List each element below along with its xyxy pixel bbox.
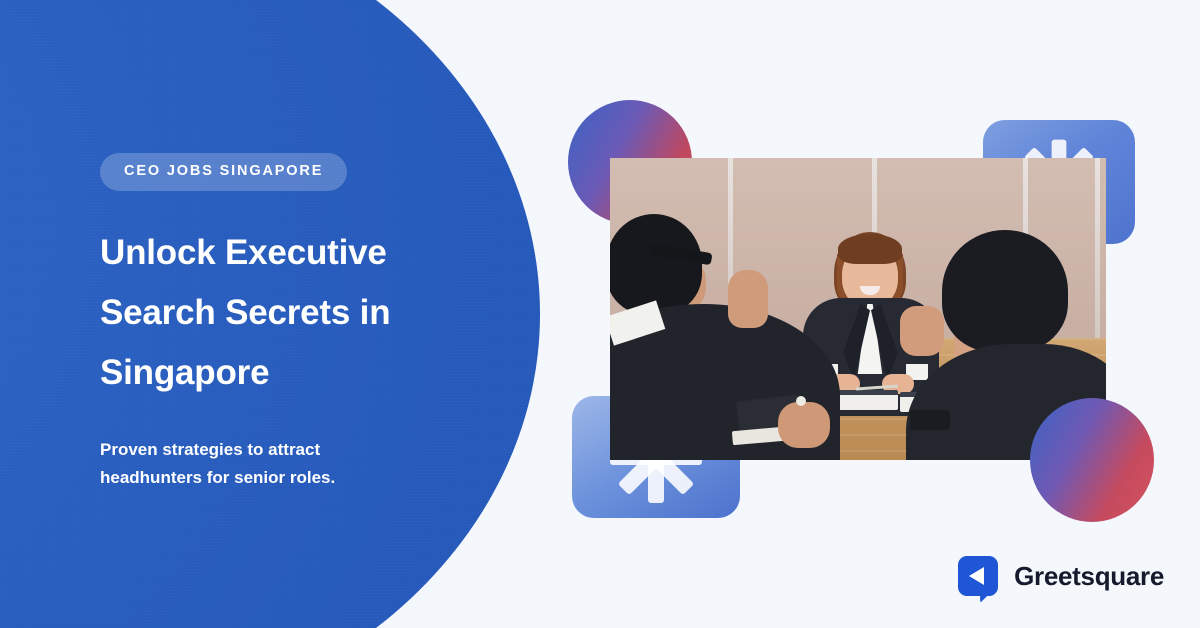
category-badge: CEO JOBS SINGAPORE xyxy=(100,153,347,191)
wand-badge xyxy=(1030,398,1154,522)
page-title: Unlock Executive Search Secrets in Singa… xyxy=(100,223,430,403)
interviewer-left-hand-lower xyxy=(778,402,830,448)
interviewer-left-pen-tip xyxy=(796,396,806,406)
interviewer-right-hand xyxy=(900,306,944,356)
interviewer-left-hand xyxy=(728,270,768,328)
promo-banner: CEO JOBS SINGAPORE Unlock Executive Sear… xyxy=(0,0,1200,628)
interviewer-left-hair xyxy=(610,214,702,314)
brand-logo[interactable]: Greetsquare xyxy=(958,556,1164,596)
interviewer-right-hair xyxy=(942,230,1068,352)
copy-block: CEO JOBS SINGAPORE Unlock Executive Sear… xyxy=(100,153,460,492)
phone-on-table xyxy=(910,410,950,430)
candidate-fringe xyxy=(838,234,902,264)
subtitle: Proven strategies to attract headhunters… xyxy=(100,436,360,492)
gradient-ring xyxy=(1030,398,1154,522)
play-triangle-icon xyxy=(969,567,984,585)
speech-bubble-play-icon xyxy=(958,556,998,596)
brand-wordmark: Greetsquare xyxy=(1014,561,1164,592)
